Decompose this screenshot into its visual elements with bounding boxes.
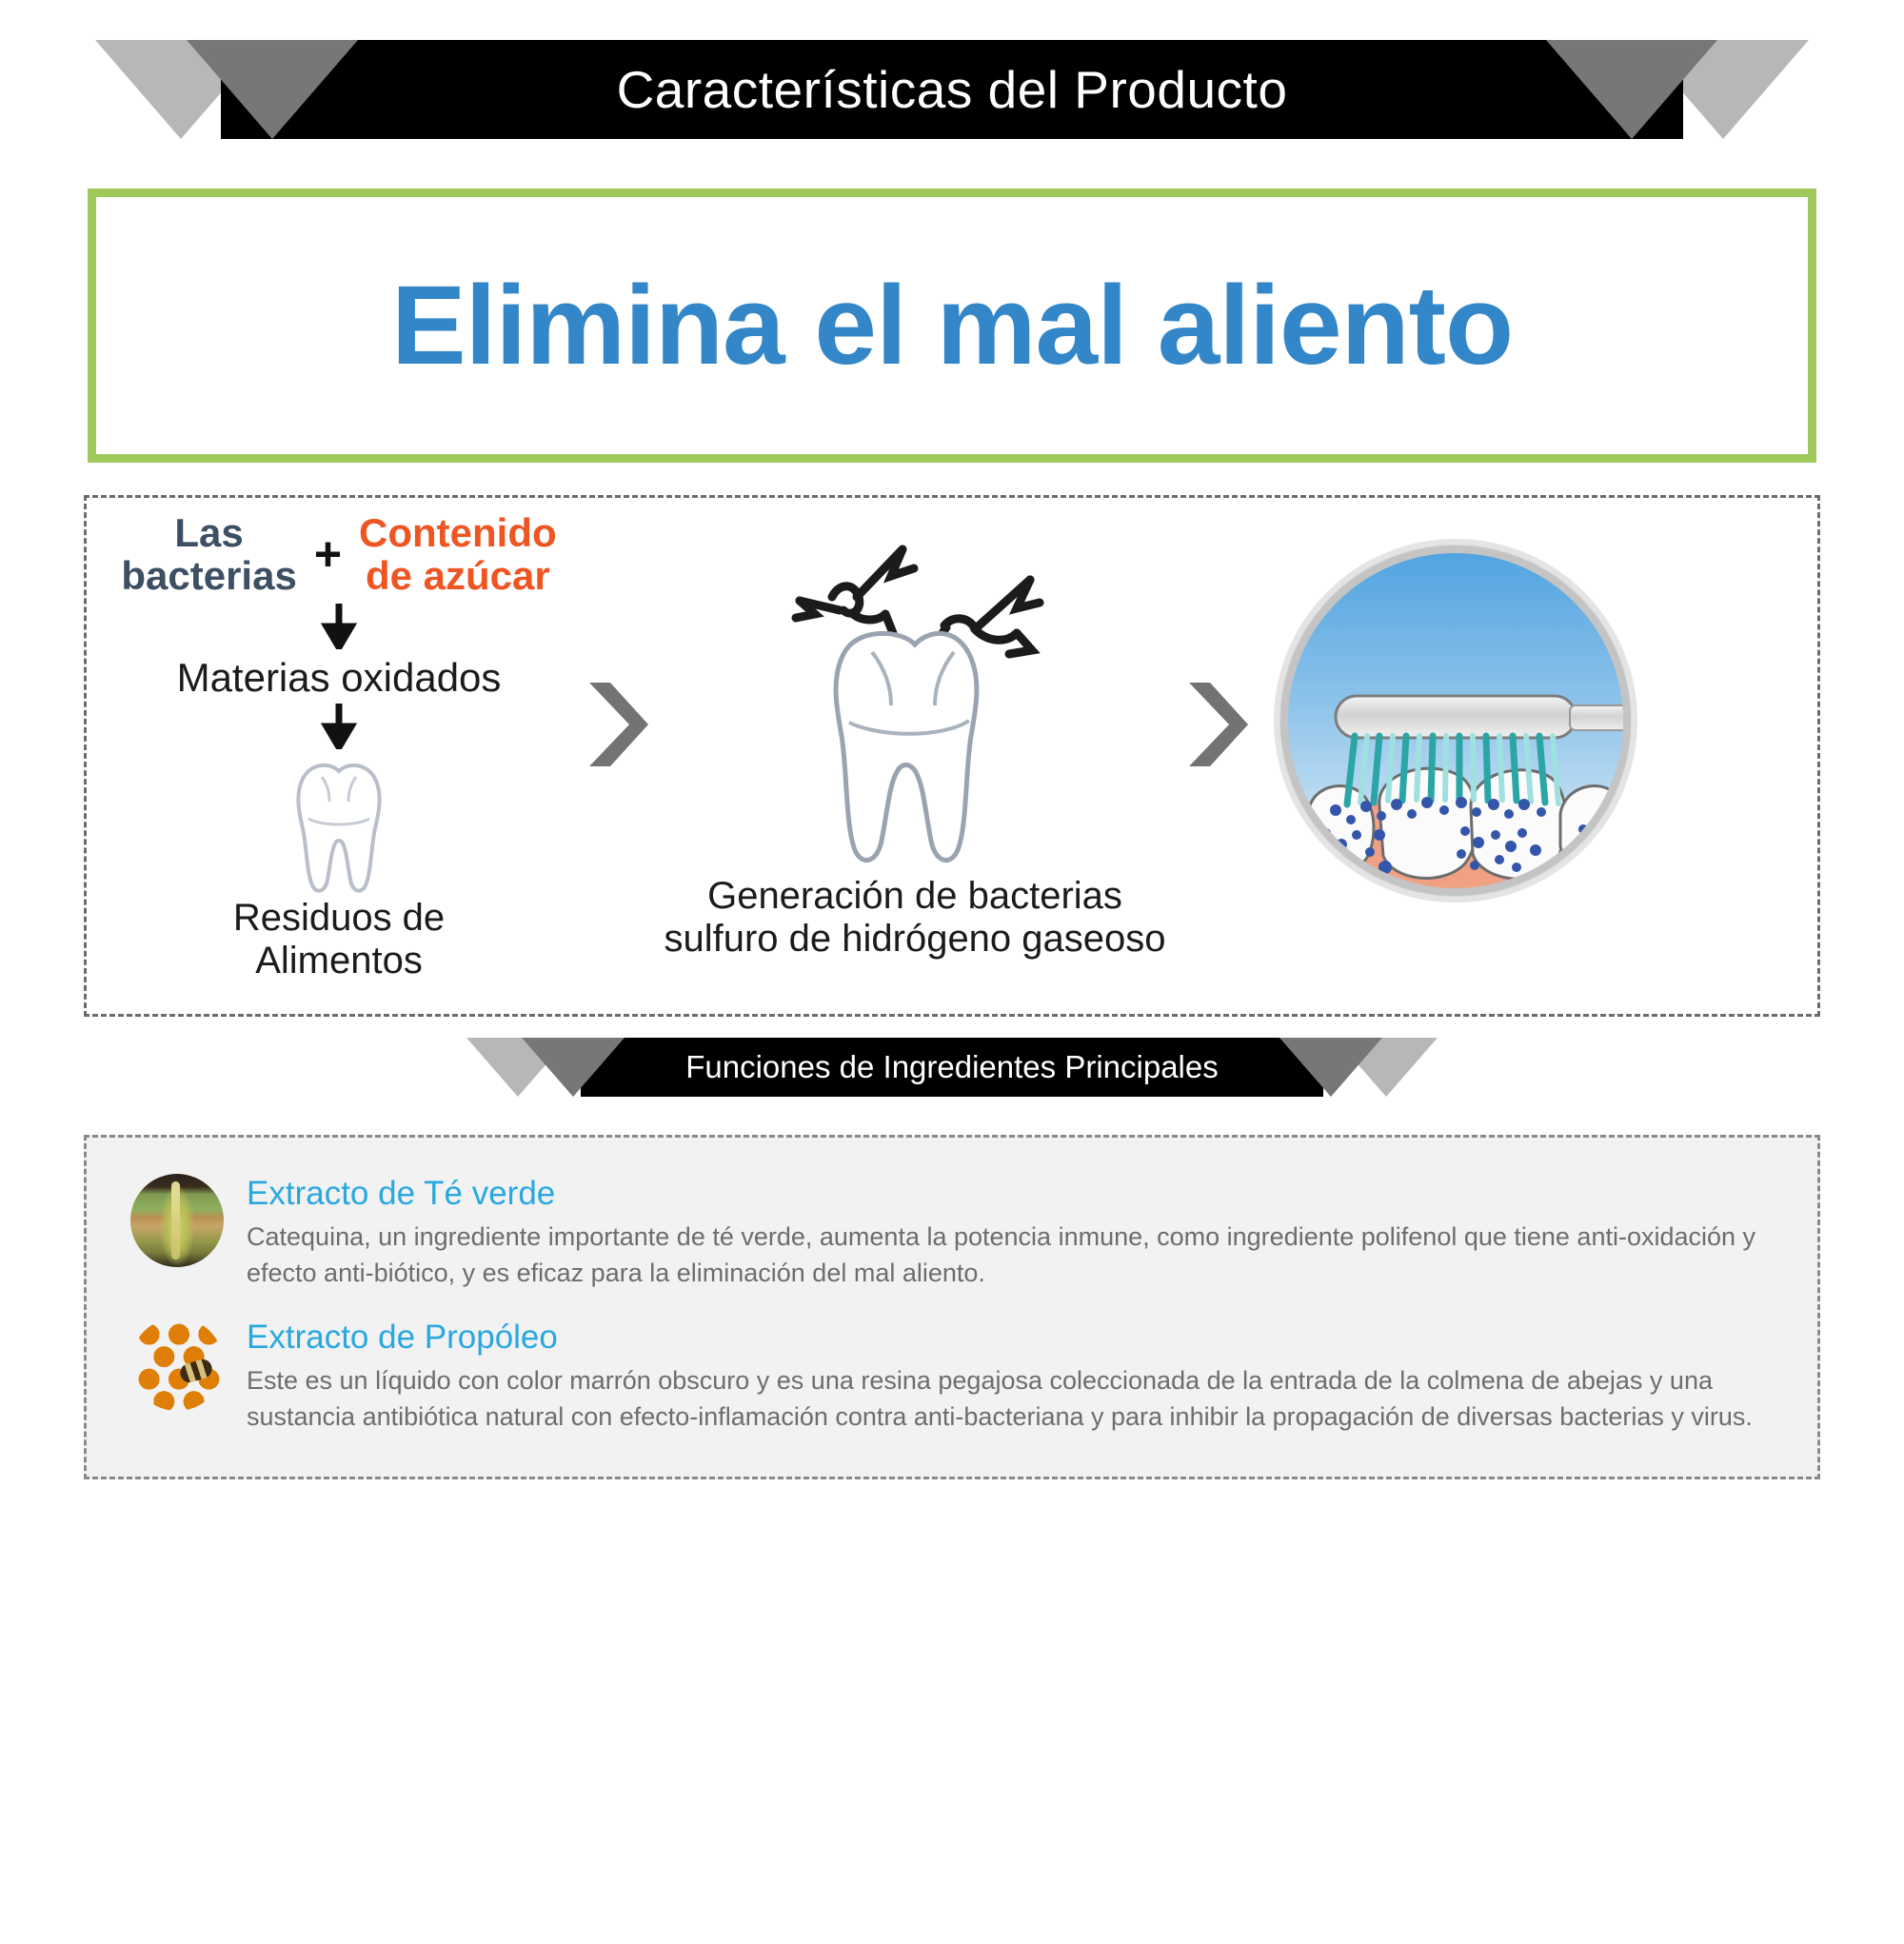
arrow-down-icon-2 xyxy=(320,704,358,749)
tooth-outline-icon xyxy=(288,760,390,893)
propolis-icon xyxy=(130,1318,224,1411)
gas-generation-line2: sulfuro de hidrógeno gaseoso xyxy=(658,918,1172,961)
diagram-column-gas: Generación de bacterias sulfuro de hidró… xyxy=(658,526,1172,961)
chevron-right-icon-2 xyxy=(1181,679,1252,770)
sub-header-triangle-right-dark xyxy=(1279,1038,1382,1097)
chevron-right-icon-1 xyxy=(582,679,652,770)
plus-symbol: + xyxy=(314,526,342,582)
ingredient-description: Este es un líquido con color marrón obsc… xyxy=(247,1362,1774,1436)
ingredient-title: Extracto de Propóleo xyxy=(247,1319,1774,1357)
diagram-column-causes: Las bacterias + Contenido de azúcar Mate… xyxy=(115,511,563,982)
hero-title-text: Elimina el mal aliento xyxy=(391,261,1513,390)
sugar-label-line2: de azúcar xyxy=(359,554,557,597)
header-triangle-left-dark xyxy=(187,40,358,139)
sugar-label-line1: Contenido xyxy=(359,511,557,554)
ingredient-item-green-tea: Extracto de Té verde Catequina, un ingre… xyxy=(130,1174,1774,1291)
sub-header-title: Funciones de Ingredientes Principales xyxy=(685,1049,1219,1085)
bacteria-label: Las bacterias xyxy=(121,511,296,598)
food-residue-line2: Alimentos xyxy=(115,940,563,982)
food-residue-caption: Residuos de Alimentos xyxy=(115,897,563,982)
process-diagram-panel: Las bacterias + Contenido de azúcar Mate… xyxy=(84,495,1820,1017)
ingredient-item-propolis: Extracto de Propóleo Este es un líquido … xyxy=(130,1318,1774,1435)
ingredient-title: Extracto de Té verde xyxy=(247,1176,1774,1213)
ingredient-body: Extracto de Propóleo Este es un líquido … xyxy=(247,1318,1774,1435)
hero-title-box: Elimina el mal aliento xyxy=(88,188,1816,463)
main-header-banner: Características del Producto xyxy=(0,40,1904,139)
bacteria-label-line1: Las xyxy=(121,511,296,554)
sugar-label: Contenido de azúcar xyxy=(359,511,557,598)
causes-row: Las bacterias + Contenido de azúcar xyxy=(115,511,563,598)
sub-header-banner: Funciones de Ingredientes Principales xyxy=(0,1038,1904,1097)
header-triangle-right-dark xyxy=(1546,40,1717,139)
oxidized-matter-label: Materias oxidados xyxy=(115,658,563,698)
ingredient-description: Catequina, un ingrediente importante de … xyxy=(247,1219,1774,1292)
toothbrush-brushing-illustration xyxy=(1267,532,1644,909)
gas-generation-caption: Generación de bacterias sulfuro de hidró… xyxy=(658,875,1172,961)
ingredient-body: Extracto de Té verde Catequina, un ingre… xyxy=(247,1174,1774,1291)
gas-generation-line1: Generación de bacterias xyxy=(658,875,1172,918)
sub-header-triangle-left-dark xyxy=(522,1038,625,1097)
diagram-column-brushing xyxy=(1267,532,1667,914)
page-title: Características del Producto xyxy=(617,59,1288,120)
bacteria-label-line2: bacterias xyxy=(121,554,296,597)
tooth-with-odor-icon xyxy=(758,526,1072,869)
arrow-down-icon xyxy=(320,604,358,649)
food-residue-line1: Residuos de xyxy=(115,897,563,940)
green-tea-icon xyxy=(130,1174,224,1267)
ingredients-panel: Extracto de Té verde Catequina, un ingre… xyxy=(84,1135,1820,1479)
